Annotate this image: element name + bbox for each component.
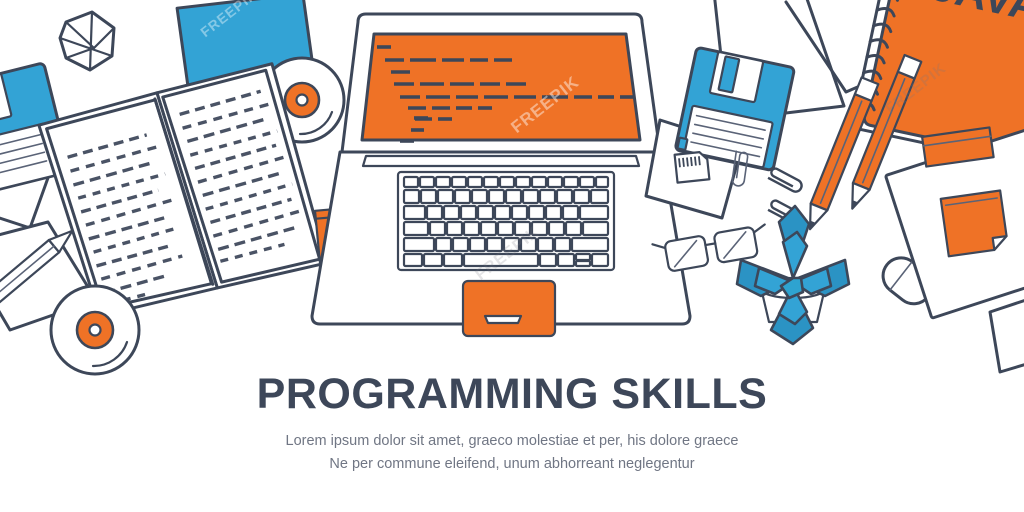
banner-caption: PROGRAMMING SKILLS Lorem ipsum dolor sit… <box>0 372 1024 475</box>
paper-sheet-right-far <box>990 300 1024 372</box>
laptop <box>312 14 690 336</box>
crumpled-paper-ball <box>60 12 114 70</box>
page-title: PROGRAMMING SKILLS <box>0 372 1024 417</box>
subtitle-line-1: Lorem ipsum dolor sit amet, graeco moles… <box>0 430 1024 452</box>
subtitle-line-2: Ne per commune eleifend, unum abhorreant… <box>0 453 1024 475</box>
succulent-plant <box>737 206 849 344</box>
sticky-note <box>941 191 1008 257</box>
programming-skills-banner: .ln { fill:none; stroke:#3d4759; stroke-… <box>0 0 1024 512</box>
sd-memory-card-right <box>675 151 710 182</box>
paper-clip-2 <box>768 167 804 194</box>
compact-disc-bottom <box>51 286 139 374</box>
